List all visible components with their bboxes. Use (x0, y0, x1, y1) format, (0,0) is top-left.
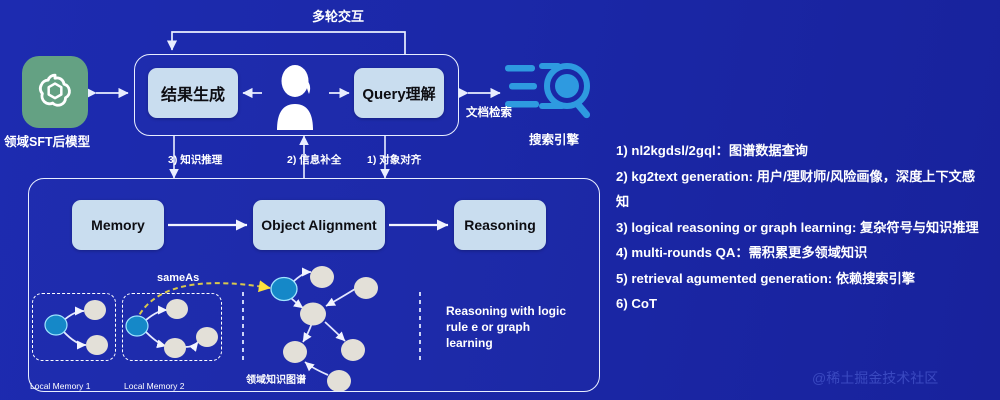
capability-item-3: 3) logical reasoning or graph learning: … (616, 215, 988, 241)
multi-round-loop-arrow (172, 32, 405, 54)
local-memory-2-card (122, 293, 222, 361)
local-memory-1-card (32, 293, 116, 361)
watermark: @稀土掘金技术社区 (812, 368, 938, 388)
document-retrieval-label: 文档检索 (466, 104, 512, 120)
capability-list: 1) nl2kgdsl/2gql：图谱数据查询 2) kg2text gener… (616, 138, 988, 317)
connector-label-2: 2) 信息补全 (287, 152, 341, 167)
capability-item-6: 6) CoT (616, 291, 988, 317)
diagram-canvas: 领域SFT后模型 结果生成 Query理解 多轮交互 文档检索 搜索引擎 3) … (0, 0, 1000, 400)
memory-stage-box[interactable]: Memory (72, 200, 164, 250)
capability-item-5: 5) retrieval agumented generation: 依赖搜索引… (616, 266, 988, 292)
local-memory-2-label: Local Memory 2 (124, 381, 184, 391)
search-engine-label: 搜索引擎 (529, 129, 579, 148)
openai-logo-icon (22, 56, 88, 128)
knowledge-graph-label: 领域知识图谱 (246, 371, 306, 386)
connector-label-3: 3) 知识推理 (168, 152, 222, 167)
result-generation-box[interactable]: 结果生成 (148, 68, 238, 118)
reasoning-stage-box[interactable]: Reasoning (454, 200, 546, 250)
openai-knot-icon (32, 69, 78, 115)
same-as-label: sameAs (157, 272, 199, 284)
search-magnifier-icon (505, 55, 597, 125)
object-alignment-stage-box[interactable]: Object Alignment (253, 200, 385, 250)
capability-item-1: 1) nl2kgdsl/2gql：图谱数据查询 (616, 138, 988, 164)
local-memory-1-label: Local Memory 1 (30, 381, 90, 391)
multi-round-label: 多轮交互 (312, 6, 364, 25)
reasoning-note: Reasoning with logic rule e or graph lea… (446, 303, 566, 351)
user-avatar-icon (267, 60, 323, 130)
model-label: 领域SFT后模型 (4, 131, 90, 150)
capability-item-2: 2) kg2text generation: 用户/理财师/风险画像，深度上下文… (616, 164, 988, 215)
connector-label-1: 1) 对象对齐 (367, 152, 421, 167)
query-understanding-box[interactable]: Query理解 (354, 68, 444, 118)
capability-item-4: 4) multi-rounds QA：需积累更多领域知识 (616, 240, 988, 266)
